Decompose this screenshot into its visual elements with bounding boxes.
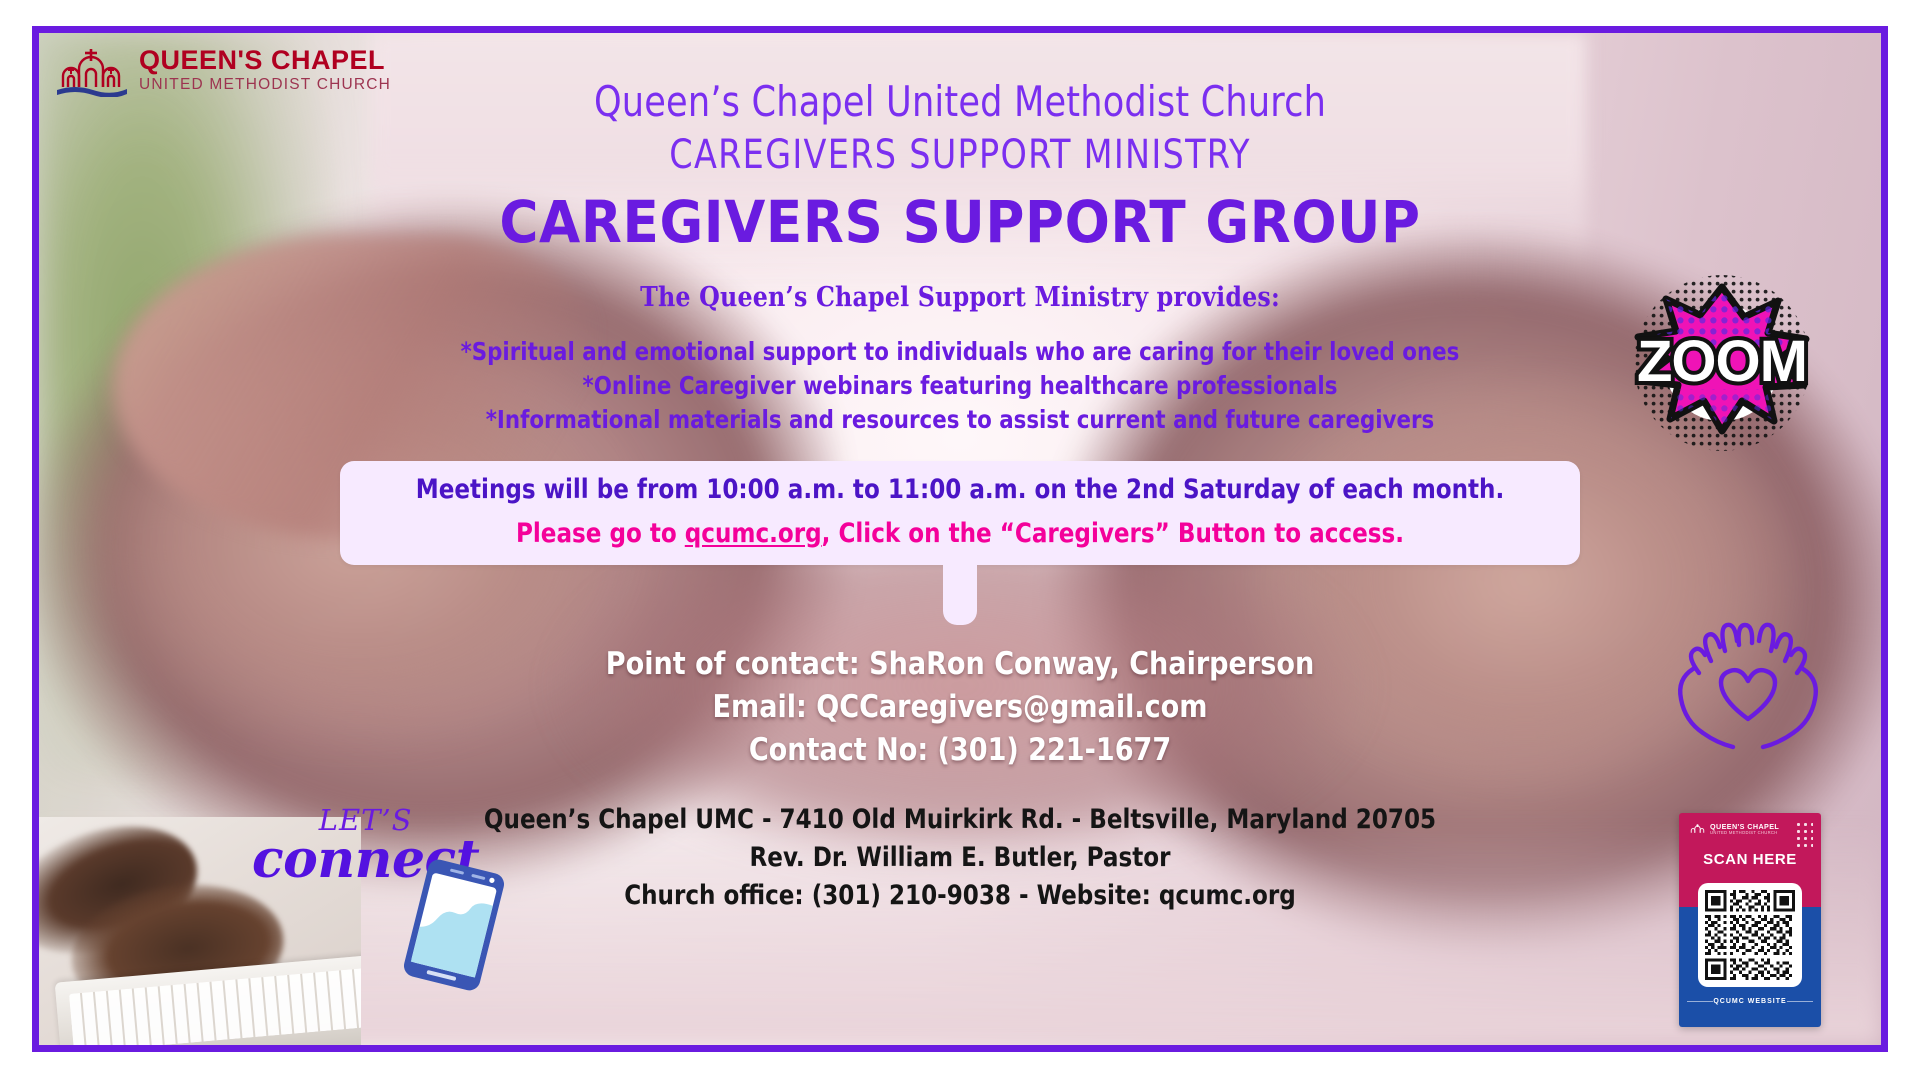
header: Queen’s Chapel United Methodist Church C… [39,33,1881,256]
page-title: CAREGIVERS SUPPORT GROUP [32,188,1888,256]
contact-phone: Contact No: (301) 221-1677 [67,729,1854,772]
flyer-page: QUEEN'S CHAPEL UNITED METHODIST CHURCH Q… [0,0,1920,1080]
qr-card-brand-sub: UNITED METHODIST CHURCH [1710,831,1779,835]
bubble-tail [943,565,977,625]
contact-block: Point of contact: ShaRon Conway, Chairpe… [39,643,1881,771]
qr-code-icon [1705,890,1795,980]
qr-card-footer-label: QCUMC WEBSITE [1679,998,1821,1005]
qr-code-container[interactable] [1698,883,1802,987]
scan-here-label: SCAN HERE [1679,851,1821,868]
qr-card-logo: QUEEN'S CHAPEL UNITED METHODIST CHURCH [1689,822,1779,836]
instruction-suffix: , Click on the “Caregivers” Button to ac… [822,518,1404,549]
lead-text: The Queen’s Chapel Support Ministry prov… [150,282,1771,313]
flyer-frame: QUEEN'S CHAPEL UNITED METHODIST CHURCH Q… [32,26,1888,1052]
list-item: *Spiritual and emotional support to indi… [85,335,1835,369]
header-line-1: Queen’s Chapel United Methodist Church [103,77,1816,126]
meeting-info-bubble: Meetings will be from 10:00 a.m. to 11:0… [340,461,1580,565]
header-line-2: CAREGIVERS SUPPORT MINISTRY [103,132,1816,178]
benefits-list: *Spiritual and emotional support to indi… [39,335,1881,437]
list-item: *Online Caregiver webinars featuring hea… [85,369,1835,403]
qr-scan-card[interactable]: QUEEN'S CHAPEL UNITED METHODIST CHURCH S… [1679,813,1821,1027]
instruction-prefix: Please go to [516,518,685,549]
qr-card-brand: QUEEN'S CHAPEL [1710,823,1779,830]
qcumc-link[interactable]: qcumc.org [685,518,822,549]
zoom-comic-badge-icon: ZOOM [1611,273,1833,453]
point-of-contact: Point of contact: ShaRon Conway, Chairpe… [67,643,1854,686]
list-item: *Informational materials and resources t… [85,403,1835,437]
meeting-schedule-text: Meetings will be from 10:00 a.m. to 11:0… [396,474,1525,505]
zoom-badge-label: ZOOM [1637,329,1807,394]
website-instruction-text: Please go to qcumc.org, Click on the “Ca… [396,518,1525,549]
decorative-dots [1795,821,1813,849]
church-building-icon [1689,822,1706,836]
caring-hands-heart-icon [1659,607,1837,767]
contact-email: Email: QCCaregivers@gmail.com [67,686,1854,729]
